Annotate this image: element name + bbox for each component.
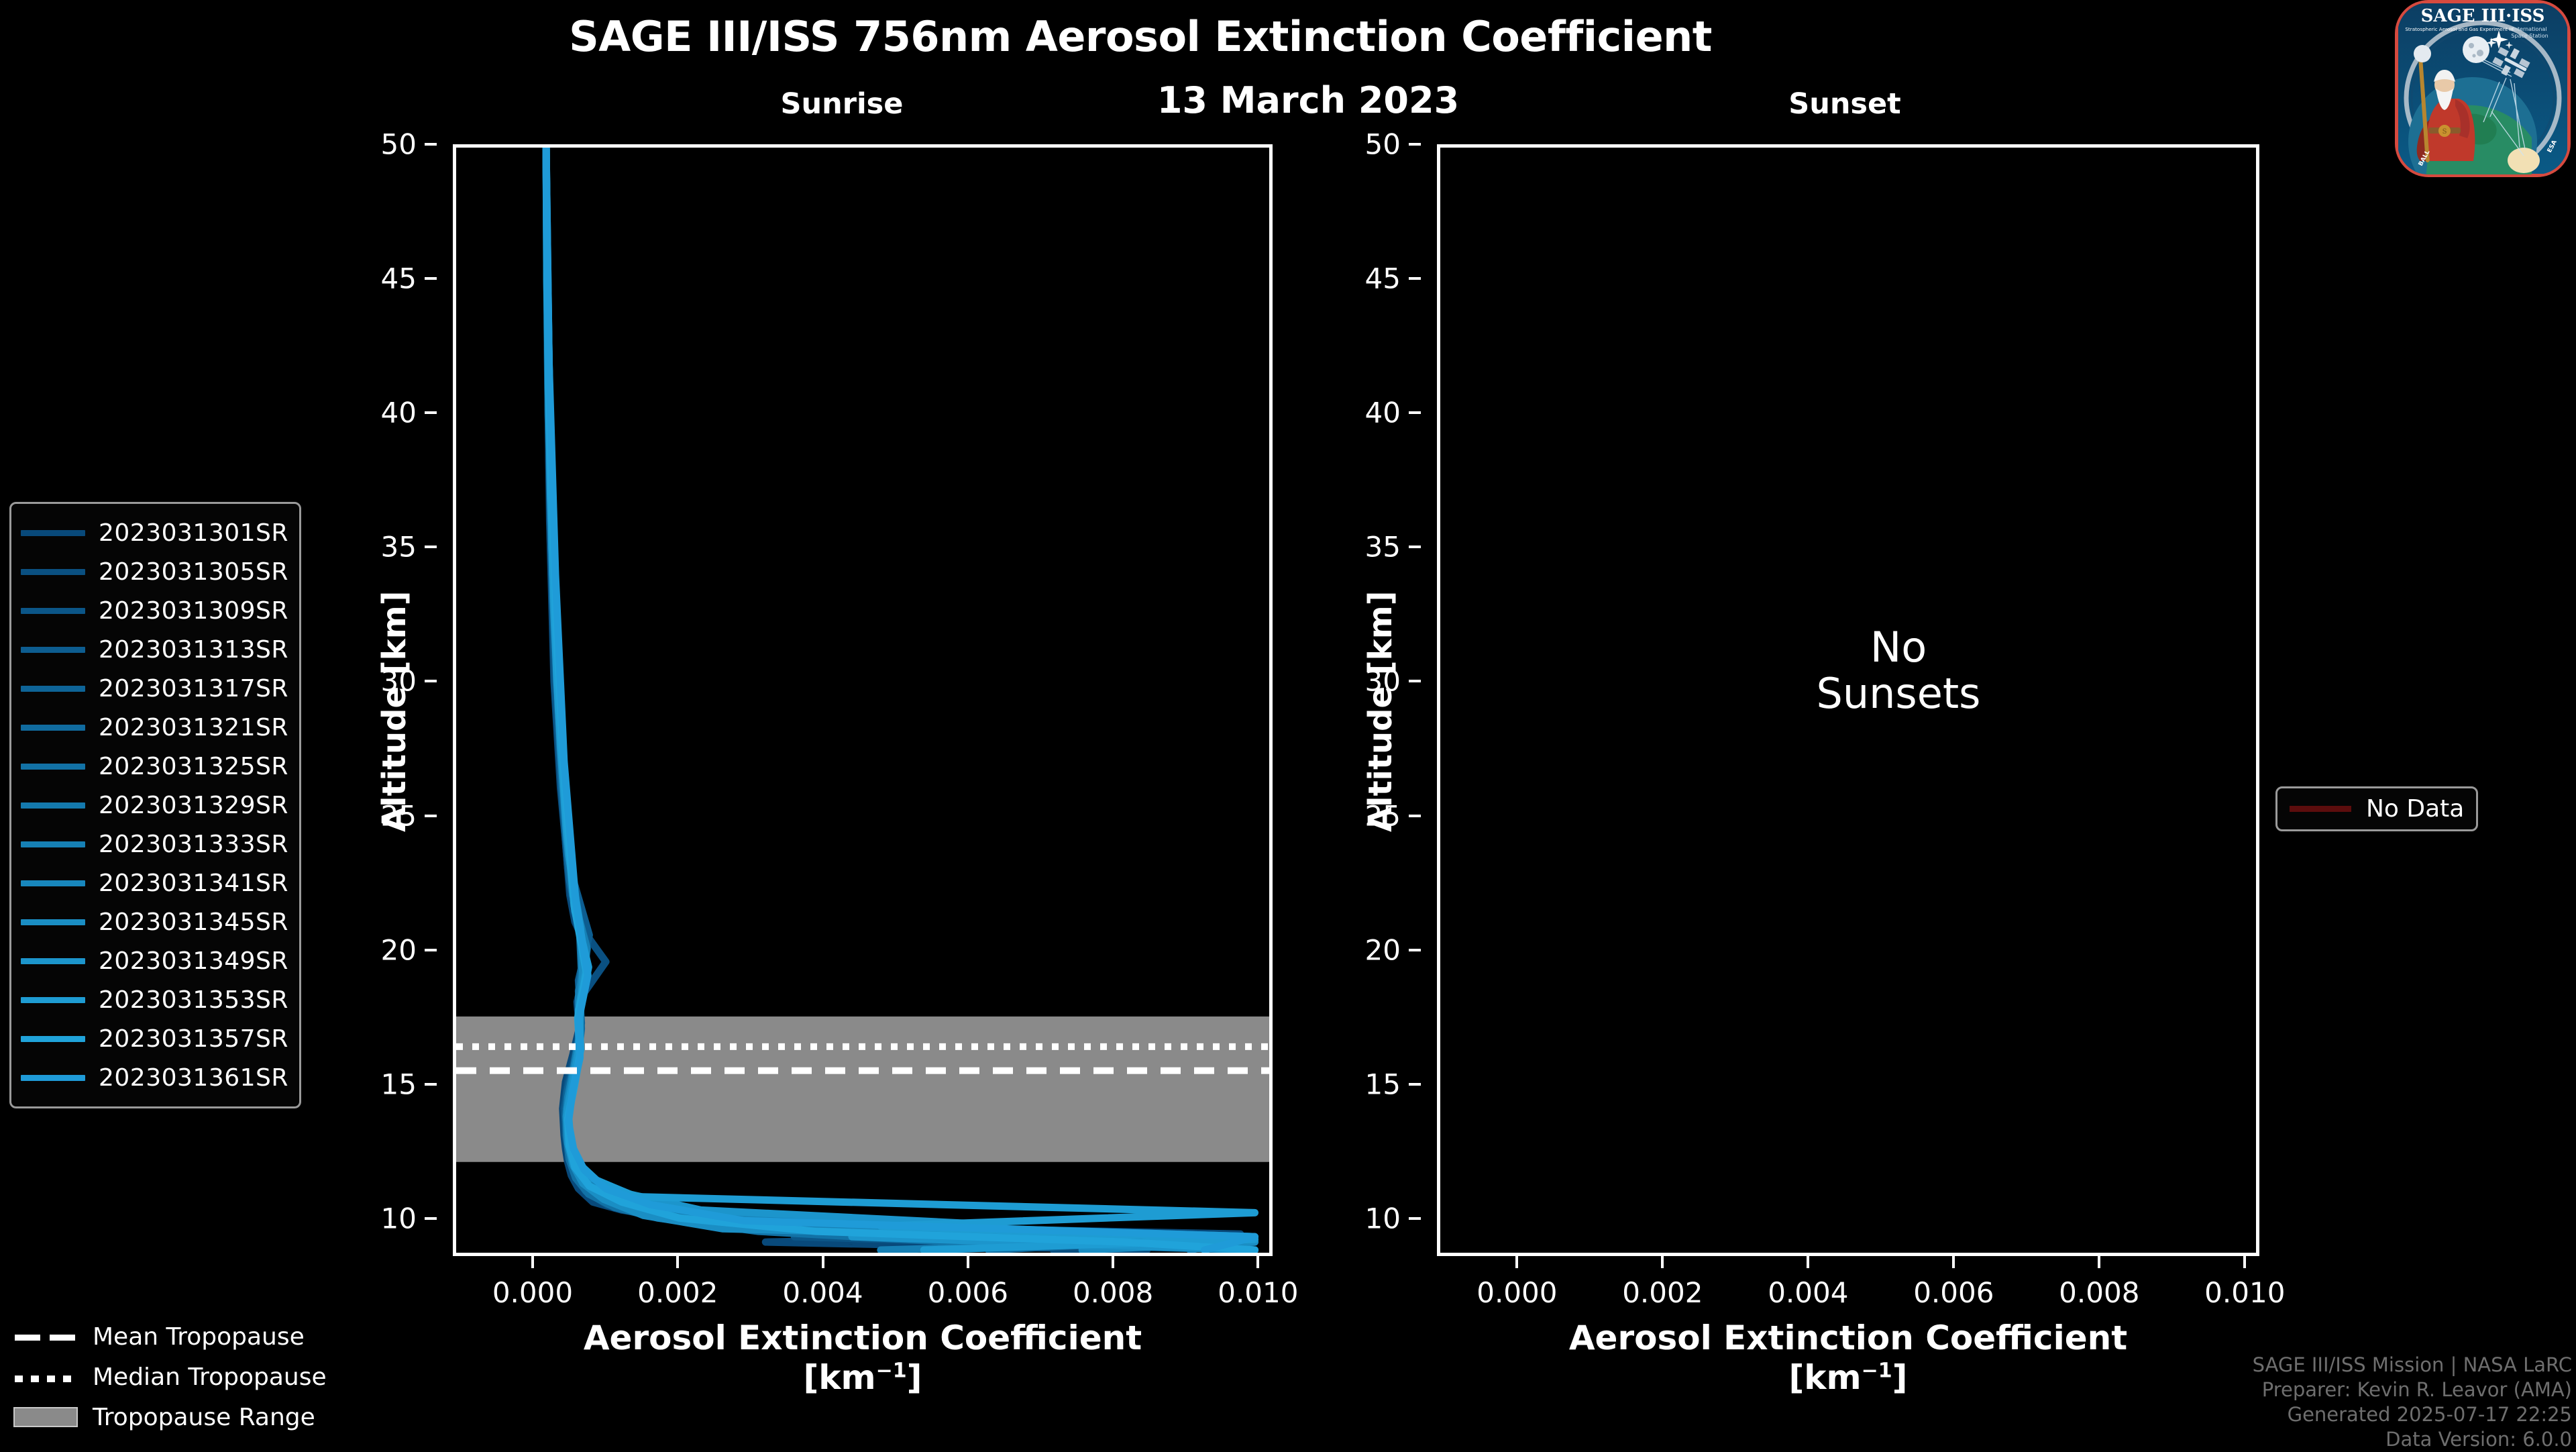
- tropopause-legend: Mean TropopauseMedian TropopauseTropopau…: [13, 1316, 327, 1437]
- x-tick-mark: [2243, 1256, 2246, 1268]
- series-legend-label: 2023031305SR: [99, 558, 288, 586]
- tropopause-range-swatch: [13, 1407, 78, 1427]
- credits-block: SAGE III/ISS Mission | NASA LaRCPreparer…: [2253, 1353, 2572, 1452]
- y-tick-mark: [425, 949, 437, 951]
- series-legend[interactable]: 2023031301SR2023031305SR2023031309SR2023…: [9, 502, 301, 1108]
- y-tick-label: 45: [1365, 262, 1401, 295]
- series-legend-color-swatch: [21, 1036, 85, 1042]
- series-legend-item[interactable]: 2023031341SR: [21, 864, 288, 902]
- x-tick-label: 0.010: [2204, 1276, 2285, 1309]
- credits-line: Data Version: 6.0.0: [2253, 1427, 2572, 1452]
- x-tick-mark: [1661, 1256, 1664, 1268]
- series-legend-color-swatch: [21, 569, 85, 575]
- sunrise-plot-svg: [456, 148, 1269, 1253]
- y-tick-label: 45: [381, 262, 417, 295]
- credits-line: Generated 2025-07-17 22:25: [2253, 1402, 2572, 1427]
- no-sunsets-line-2: Sunsets: [1758, 670, 2039, 717]
- series-legend-color-swatch: [21, 802, 85, 809]
- series-legend-color-swatch: [21, 919, 85, 925]
- tropopause-legend-label: Mean Tropopause: [93, 1323, 305, 1351]
- tropopause-legend-label: Median Tropopause: [93, 1363, 327, 1391]
- y-tick-mark: [425, 277, 437, 280]
- y-tick-label: 20: [1365, 933, 1401, 966]
- series-legend-item[interactable]: 2023031349SR: [21, 941, 288, 980]
- x-tick-label: 0.010: [1218, 1276, 1298, 1309]
- x-tick-mark: [822, 1256, 824, 1268]
- y-tick-label: 35: [381, 531, 417, 564]
- y-tick-mark: [425, 680, 437, 682]
- series-legend-label: 2023031325SR: [99, 753, 288, 780]
- series-legend-label: 2023031329SR: [99, 792, 288, 819]
- series-legend-label: 2023031341SR: [99, 870, 288, 897]
- sunset-x-axis-label-text: Aerosol Extinction Coefficient: [1569, 1318, 2127, 1357]
- x-tick-label: 0.006: [928, 1276, 1008, 1309]
- y-tick-mark: [425, 411, 437, 414]
- page-title: SAGE III/ISS 756nm Aerosol Extinction Co…: [0, 12, 2281, 61]
- tropopause-legend-label: Tropopause Range: [93, 1404, 315, 1431]
- y-tick-mark: [425, 1083, 437, 1086]
- credits-line: SAGE III/ISS Mission | NASA LaRC: [2253, 1353, 2572, 1378]
- y-tick-label: 40: [381, 397, 417, 429]
- y-tick-label: 50: [1365, 128, 1401, 161]
- y-tick-mark: [425, 815, 437, 817]
- series-legend-item[interactable]: 2023031317SR: [21, 669, 288, 708]
- date-subtitle: 13 March 2023: [1060, 79, 1556, 121]
- series-legend-label: 2023031333SR: [99, 831, 288, 858]
- sunset-panel-title: Sunset: [1657, 87, 2033, 121]
- y-tick-label: 50: [381, 128, 417, 161]
- series-legend-color-swatch: [21, 958, 85, 964]
- series-legend-color-swatch: [21, 530, 85, 536]
- no-sunsets-line-1: No: [1758, 624, 2039, 670]
- series-legend-item[interactable]: 2023031345SR: [21, 902, 288, 941]
- sunrise-x-axis-label: Aerosol Extinction Coefficient [km−1]: [453, 1318, 1273, 1398]
- patch-subtitle-right-2: Space Station: [2511, 33, 2548, 39]
- sunrise-panel-title: Sunrise: [654, 87, 1030, 121]
- sunrise-x-axis-label-text: Aerosol Extinction Coefficient: [584, 1318, 1142, 1357]
- series-legend-item[interactable]: 2023031301SR: [21, 513, 288, 552]
- x-tick-mark: [676, 1256, 679, 1268]
- sunrise-plot-area: [453, 144, 1273, 1256]
- credits-line: Preparer: Kevin R. Leavor (AMA): [2253, 1378, 2572, 1402]
- y-tick-mark: [425, 546, 437, 548]
- x-tick-mark: [1112, 1256, 1114, 1268]
- x-tick-label: 0.004: [782, 1276, 863, 1309]
- series-legend-item[interactable]: 2023031305SR: [21, 552, 288, 591]
- x-tick-label: 0.000: [492, 1276, 573, 1309]
- sage-iii-iss-mission-patch-logo: S SAGE III·ISS Stratospheric Aerosol and…: [2392, 0, 2573, 180]
- sunrise-y-axis-label: Altitude [km]: [376, 590, 413, 832]
- series-legend-color-swatch: [21, 1075, 85, 1081]
- sunset-x-axis-label: Aerosol Extinction Coefficient [km−1]: [1437, 1318, 2259, 1398]
- x-tick-label: 0.004: [1768, 1276, 1848, 1309]
- series-legend-color-swatch: [21, 880, 85, 886]
- no-data-legend[interactable]: No Data: [2275, 786, 2478, 831]
- series-legend-item[interactable]: 2023031329SR: [21, 786, 288, 825]
- patch-subtitle-right-1: International: [2512, 26, 2546, 32]
- x-tick-label: 0.002: [1622, 1276, 1703, 1309]
- mission-patch-svg: S SAGE III·ISS Stratospheric Aerosol and…: [2392, 0, 2573, 180]
- x-tick-mark: [1952, 1256, 1955, 1268]
- series-legend-color-swatch: [21, 686, 85, 692]
- series-legend-label: 2023031309SR: [99, 597, 288, 625]
- y-tick-mark: [1409, 411, 1421, 414]
- y-tick-label: 10: [381, 1202, 417, 1235]
- x-tick-label: 0.008: [2059, 1276, 2139, 1309]
- y-tick-label: 40: [1365, 397, 1401, 429]
- x-tick-label: 0.008: [1073, 1276, 1153, 1309]
- series-legend-color-swatch: [21, 725, 85, 731]
- sunrise-x-axis-ticks: 0.0000.0020.0040.0060.0080.010: [453, 1268, 1273, 1308]
- series-legend-item[interactable]: 2023031313SR: [21, 630, 288, 669]
- mean-tropopause-swatch: [13, 1327, 78, 1347]
- series-legend-label: 2023031361SR: [99, 1064, 288, 1092]
- series-legend-label: 2023031313SR: [99, 636, 288, 664]
- y-tick-label: 15: [381, 1068, 417, 1100]
- x-tick-mark: [1807, 1256, 1809, 1268]
- y-tick-mark: [1409, 815, 1421, 817]
- y-tick-mark: [1409, 143, 1421, 146]
- series-legend-item[interactable]: 2023031325SR: [21, 747, 288, 786]
- series-legend-label: 2023031349SR: [99, 947, 288, 975]
- series-legend-label: 2023031353SR: [99, 986, 288, 1014]
- patch-title: SAGE III·ISS: [2421, 6, 2545, 26]
- y-tick-mark: [425, 143, 437, 146]
- sunset-y-axis-label: Altitude [km]: [1362, 590, 1399, 832]
- patch-subtitle-left: Stratospheric Aerosol and Gas Experiment…: [2405, 26, 2513, 32]
- series-legend-label: 2023031317SR: [99, 675, 288, 703]
- x-tick-mark: [967, 1256, 969, 1268]
- series-legend-item[interactable]: 2023031361SR: [21, 1058, 288, 1097]
- no-data-legend-label: No Data: [2366, 795, 2464, 823]
- y-tick-label: 10: [1365, 1202, 1401, 1235]
- median-tropopause-swatch: [13, 1367, 78, 1387]
- series-legend-color-swatch: [21, 764, 85, 770]
- tropopause-legend-item: Tropopause Range: [13, 1397, 327, 1437]
- x-tick-label: 0.006: [1913, 1276, 1994, 1309]
- y-tick-label: 15: [1365, 1068, 1401, 1100]
- no-sunsets-message: No Sunsets: [1758, 624, 2039, 717]
- series-legend-label: 2023031345SR: [99, 909, 288, 936]
- y-tick-mark: [425, 1217, 437, 1220]
- series-legend-label: 2023031301SR: [99, 519, 288, 547]
- y-tick-mark: [1409, 546, 1421, 548]
- series-legend-color-swatch: [21, 997, 85, 1003]
- series-legend-color-swatch: [21, 647, 85, 653]
- series-legend-label: 2023031321SR: [99, 714, 288, 741]
- x-tick-mark: [2098, 1256, 2100, 1268]
- x-tick-mark: [1515, 1256, 1518, 1268]
- y-tick-mark: [1409, 277, 1421, 280]
- y-tick-mark: [1409, 1083, 1421, 1086]
- sunset-x-axis-unit: [km−1]: [1437, 1358, 2259, 1398]
- series-legend-color-swatch: [21, 841, 85, 847]
- sunrise-x-axis-unit: [km−1]: [453, 1358, 1273, 1398]
- series-legend-label: 2023031357SR: [99, 1025, 288, 1053]
- y-tick-mark: [1409, 949, 1421, 951]
- y-tick-label: 35: [1365, 531, 1401, 564]
- y-tick-label: 20: [381, 933, 417, 966]
- svg-text:S: S: [2443, 128, 2447, 136]
- series-legend-item[interactable]: 2023031333SR: [21, 825, 288, 864]
- series-legend-color-swatch: [21, 608, 85, 614]
- y-tick-mark: [1409, 1217, 1421, 1220]
- series-legend-item[interactable]: 2023031357SR: [21, 1019, 288, 1058]
- series-legend-item[interactable]: 2023031321SR: [21, 708, 288, 747]
- series-legend-item[interactable]: 2023031353SR: [21, 980, 288, 1019]
- series-legend-item[interactable]: 2023031309SR: [21, 591, 288, 630]
- x-tick-mark: [1256, 1256, 1259, 1268]
- x-tick-label: 0.000: [1477, 1276, 1557, 1309]
- sunset-x-axis-ticks: 0.0000.0020.0040.0060.0080.010: [1437, 1268, 2259, 1308]
- tropopause-legend-item: Median Tropopause: [13, 1357, 327, 1397]
- y-tick-mark: [1409, 680, 1421, 682]
- no-data-line-swatch: [2290, 806, 2351, 812]
- x-tick-label: 0.002: [637, 1276, 718, 1309]
- tropopause-legend-item: Mean Tropopause: [13, 1316, 327, 1357]
- x-tick-mark: [531, 1256, 534, 1268]
